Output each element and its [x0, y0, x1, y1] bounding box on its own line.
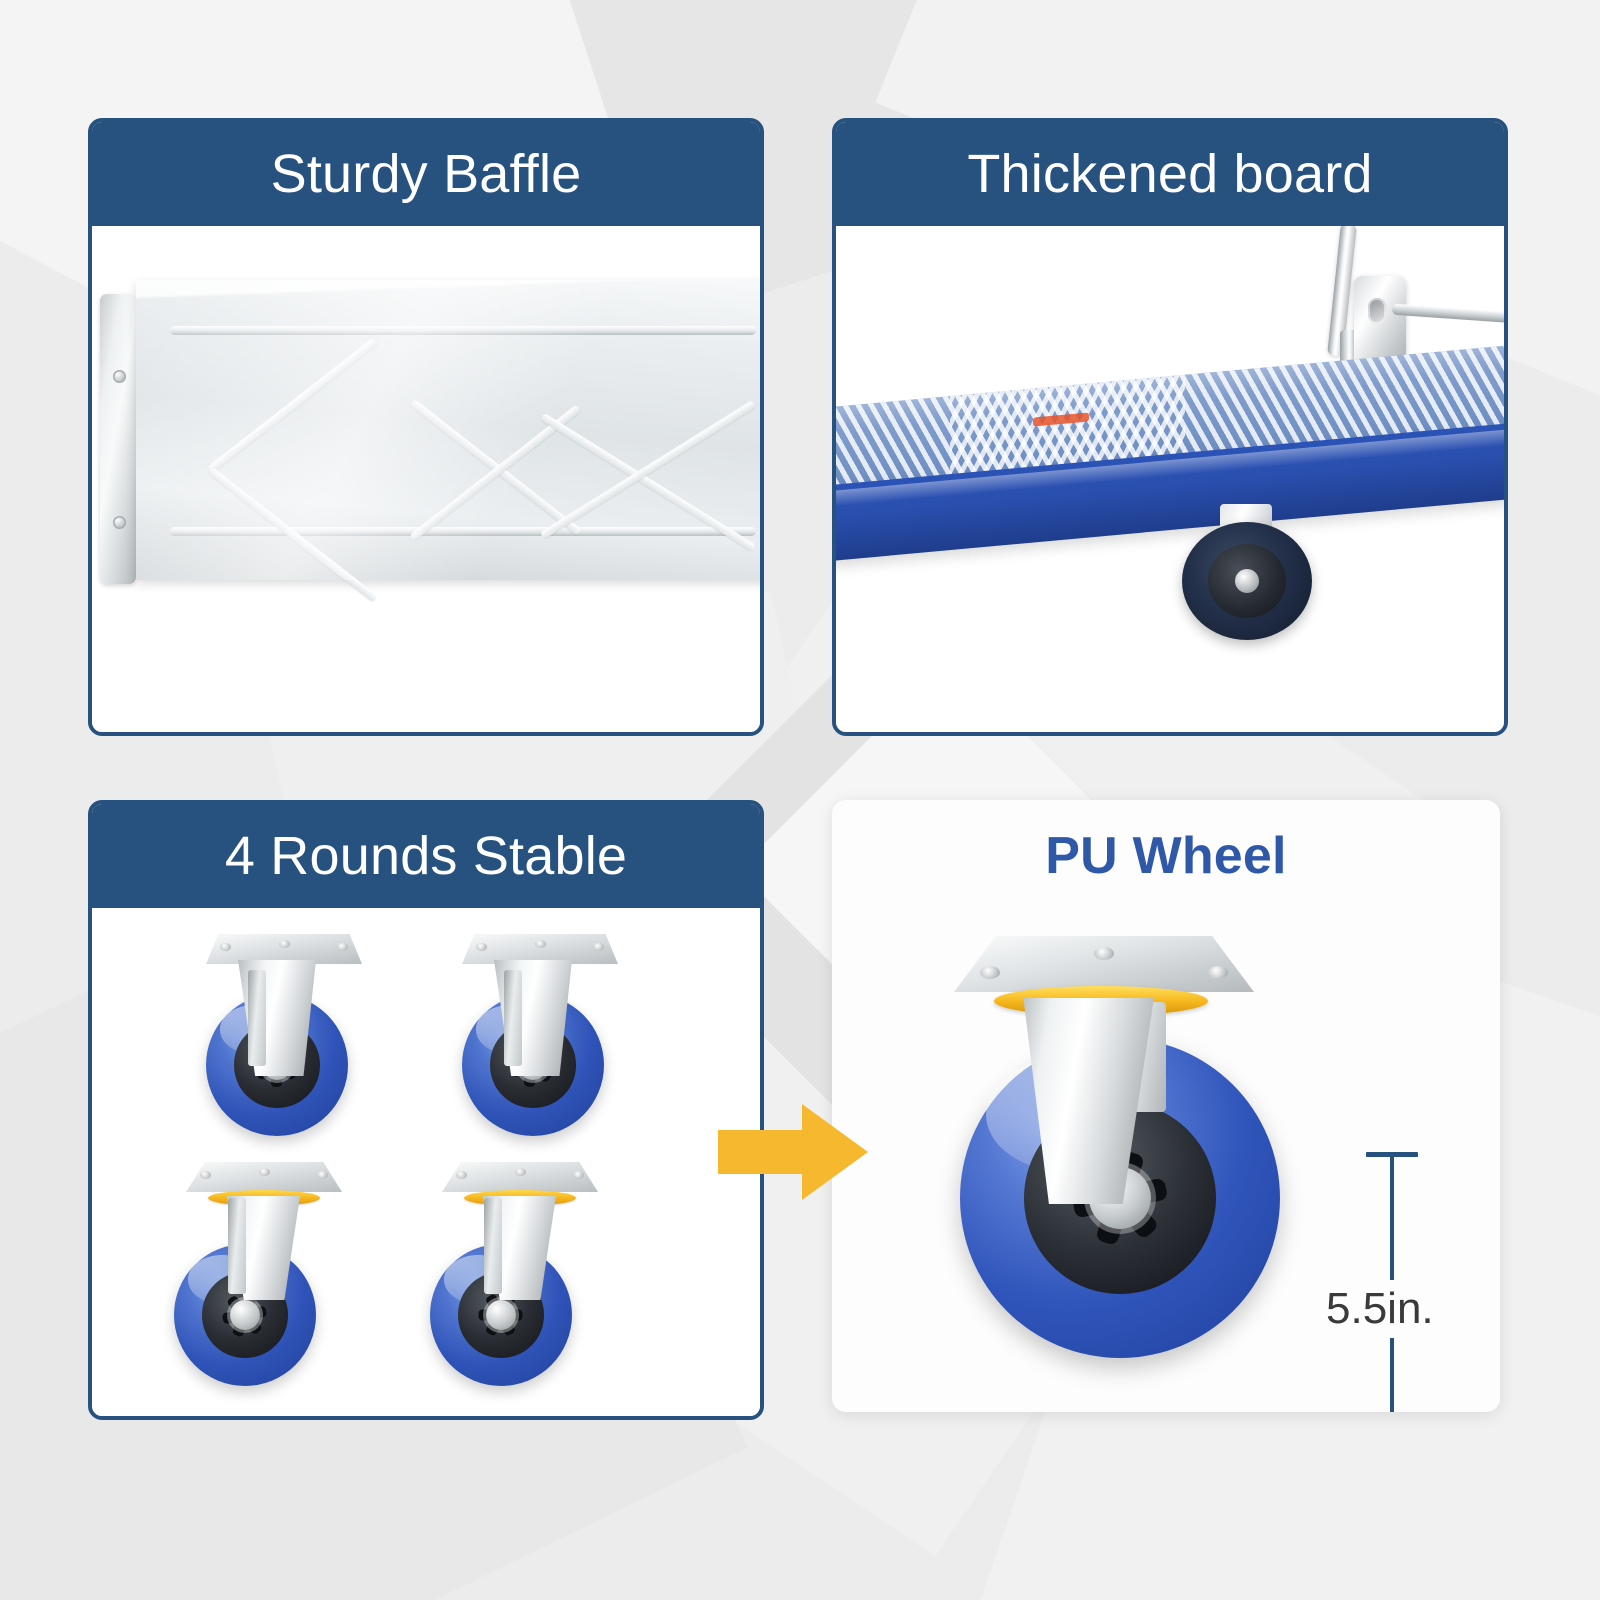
pu-wheel-photo: [924, 920, 1324, 1390]
bolt-hole-icon: [535, 940, 546, 948]
caster-fork-leg: [504, 970, 522, 1066]
bolt-hole-icon: [980, 966, 1000, 979]
panel-title-thickened-board: Thickened board: [836, 122, 1504, 226]
deck-wheel: [1182, 522, 1312, 640]
panel-image-4-rounds-stable: [92, 908, 760, 1416]
bolt-hole-icon: [317, 1171, 328, 1179]
pressed-ridge: [170, 527, 756, 536]
wheel-axle-bolt: [486, 1300, 516, 1330]
wheel-axle-bolt: [1235, 569, 1259, 593]
panel-title-pu-wheel: PU Wheel: [832, 800, 1500, 912]
bolt-hole-icon: [1094, 947, 1114, 960]
caster-fork-leg: [484, 1198, 502, 1294]
platform-deck-photo: [836, 226, 1504, 732]
rigid-caster: [440, 934, 640, 1144]
panel-pu-wheel: PU Wheel: [832, 800, 1500, 1412]
bolt-hole-icon: [200, 1171, 211, 1179]
bolt-hole-icon: [456, 1171, 467, 1179]
mounting-plate: [186, 1162, 342, 1192]
mounting-plate: [954, 936, 1254, 992]
panel-sturdy-baffle: Sturdy Baffle: [88, 118, 764, 736]
bolt-hole-icon: [279, 940, 290, 948]
dimension-label: 5.5in.: [1318, 1280, 1442, 1338]
handle-crossbar: [1392, 304, 1504, 324]
hinge-bracket: [100, 294, 136, 584]
bolt-icon: [113, 516, 126, 529]
bolt-hole-icon: [573, 1171, 584, 1179]
bolt-icon: [113, 370, 126, 383]
mounting-plate: [462, 934, 618, 964]
bolt-hole-icon: [593, 943, 604, 951]
dimension-annotation: 5.5in.: [1326, 1144, 1456, 1412]
swivel-caster: [420, 1162, 620, 1372]
rigid-caster: [184, 934, 384, 1144]
panel-image-sturdy-baffle: [92, 226, 760, 732]
mounting-plate: [442, 1162, 598, 1192]
panel-title-4-rounds-stable: 4 Rounds Stable: [92, 804, 760, 908]
bolt-hole-icon: [259, 1168, 270, 1176]
bolt-hole-icon: [337, 943, 348, 951]
latch-pin-icon: [1368, 298, 1386, 324]
bolt-hole-icon: [515, 1168, 526, 1176]
caster-fork-leg: [228, 1198, 246, 1294]
bolt-hole-icon: [1208, 966, 1228, 979]
panel-image-pu-wheel: 5.5in.: [832, 912, 1500, 1412]
panel-4-rounds-stable: 4 Rounds Stable: [88, 800, 764, 1420]
aluminium-plate: [136, 280, 760, 580]
mounting-plate: [206, 934, 362, 964]
wheel-axle-bolt: [230, 1300, 260, 1330]
bolt-hole-icon: [476, 943, 487, 951]
feature-grid: Sturdy Baffle: [0, 0, 1600, 1600]
diamond-emboss: [208, 338, 378, 474]
panel-thickened-board: Thickened board: [832, 118, 1508, 736]
x-emboss: [540, 400, 756, 539]
swivel-caster: [164, 1162, 364, 1372]
caster-set-photo: [92, 908, 760, 1416]
panel-title-sturdy-baffle: Sturdy Baffle: [92, 122, 760, 226]
bolt-hole-icon: [220, 943, 231, 951]
baffle-photo: [92, 274, 760, 594]
pressed-ridge: [170, 326, 756, 335]
caster-fork-leg: [248, 970, 266, 1066]
arrow-right-icon: [718, 1100, 868, 1204]
panel-image-thickened-board: [836, 226, 1504, 732]
